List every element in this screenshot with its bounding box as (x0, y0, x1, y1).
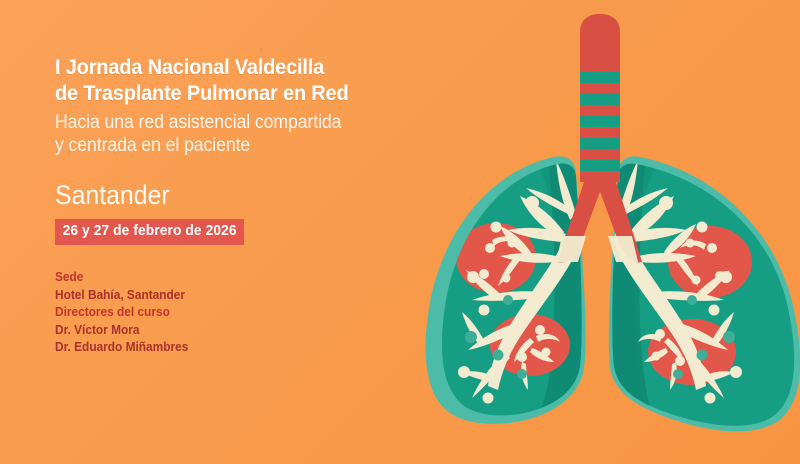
title-line-2: de Trasplante Pulmonar en Red (55, 80, 446, 106)
city-name: Santander (55, 180, 441, 210)
page-title: I Jornada Nacional Valdecilla de Traspla… (55, 54, 446, 106)
poster-text-column: I Jornada Nacional Valdecilla de Traspla… (55, 54, 475, 357)
director-name-1: Dr. Víctor Mora (55, 322, 454, 340)
director-name-2: Dr. Eduardo Miñambres (55, 339, 454, 357)
page-subtitle: Hacia una red asistencial compartida y c… (55, 111, 446, 157)
event-date-badge: 26 y 27 de febrero de 2026 (55, 219, 244, 245)
venue-label: Sede (55, 269, 454, 287)
venue-value: Hotel Bahía, Santander (55, 287, 454, 305)
subtitle-line-2: y centrada en el paciente (55, 134, 446, 157)
poster-canvas: I Jornada Nacional Valdecilla de Traspla… (0, 0, 800, 464)
directors-label: Directores del curso (55, 304, 454, 322)
title-line-1: I Jornada Nacional Valdecilla (55, 54, 446, 80)
subtitle-line-1: Hacia una red asistencial compartida (55, 111, 446, 134)
event-info-block: Sede Hotel Bahía, Santander Directores d… (55, 269, 454, 357)
